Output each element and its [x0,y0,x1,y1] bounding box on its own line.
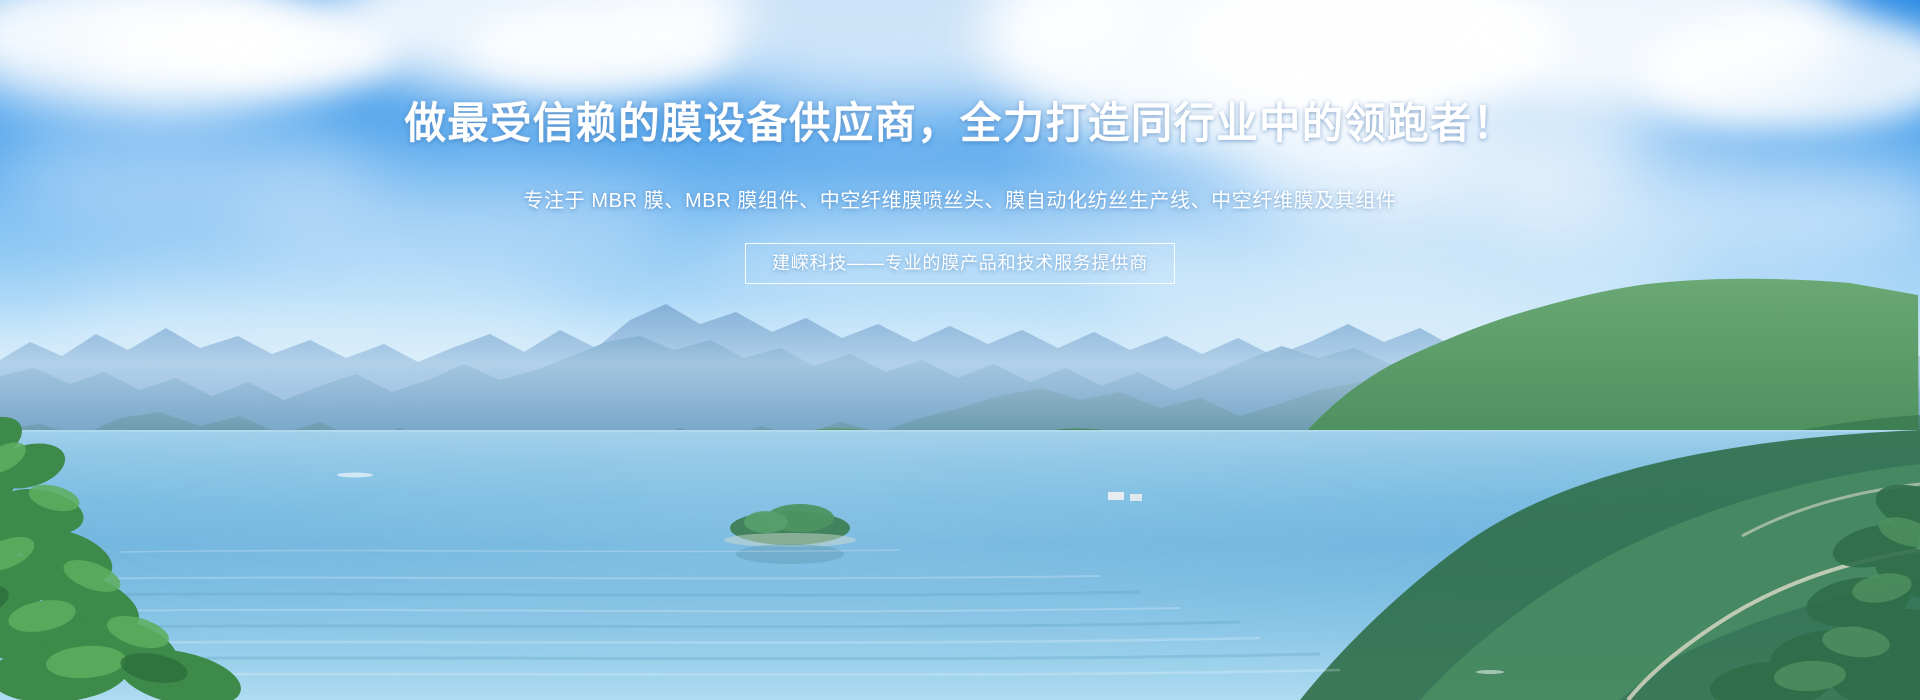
banner-headline: 做最受信赖的膜设备供应商，全力打造同行业中的领跑者！ [38,98,1881,150]
banner-subtitle: 专注于 MBR 膜、MBR 膜组件、中空纤维膜喷丝头、膜自动化纺丝生产线、中空纤… [0,186,1920,216]
banner-tagline-wrapper: 建嵘科技——专业的膜产品和技术服务提供商 [0,243,1920,284]
banner-tagline: 建嵘科技——专业的膜产品和技术服务提供商 [745,243,1175,284]
hero-banner: 做最受信赖的膜设备供应商，全力打造同行业中的领跑者！ 专注于 MBR 膜、MBR… [0,0,1920,700]
banner-content: 做最受信赖的膜设备供应商，全力打造同行业中的领跑者！ 专注于 MBR 膜、MBR… [0,0,1920,700]
